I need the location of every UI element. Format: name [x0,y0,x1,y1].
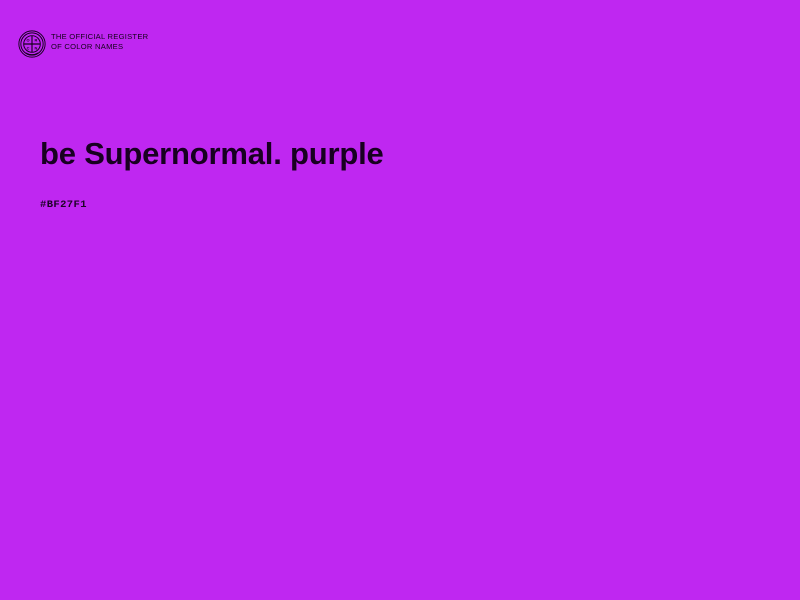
brand-lockup: O R C N THE OFFICIAL REGISTER OF COLOR N… [18,30,148,58]
svg-text:O: O [27,37,30,42]
official-register-seal-icon: O R C N [18,30,46,58]
svg-text:N: N [35,45,38,50]
brand-line-2: OF COLOR NAMES [51,42,148,52]
color-hex-code: #BF27F1 [40,199,87,211]
brand-line-1: THE OFFICIAL REGISTER [51,32,148,42]
brand-text: THE OFFICIAL REGISTER OF COLOR NAMES [51,32,148,51]
svg-text:R: R [35,37,38,42]
color-swatch-page: O R C N THE OFFICIAL REGISTER OF COLOR N… [0,0,800,600]
svg-text:C: C [27,45,30,50]
color-name-title: be Supernormal. purple [40,136,384,172]
